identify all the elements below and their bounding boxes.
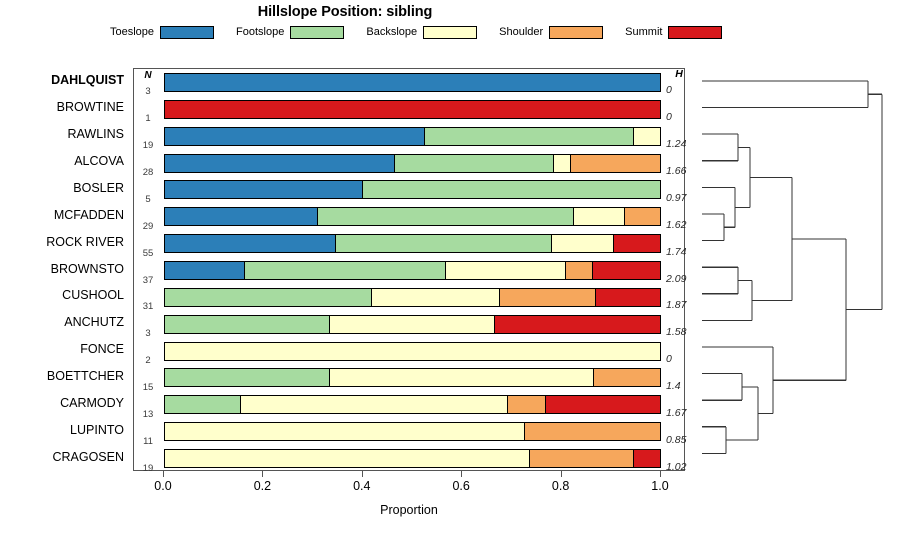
- table-row: [164, 342, 661, 361]
- bar-segment-summit: [596, 289, 660, 306]
- bar-segment-toeslope: [165, 155, 395, 172]
- x-axis-tick: [163, 471, 164, 477]
- n-value: 11: [133, 436, 163, 447]
- legend-item-summit: Summit: [625, 26, 722, 39]
- bar-segment-backslope: [241, 396, 507, 413]
- dendrogram-svg: [700, 68, 898, 471]
- table-row: [164, 395, 661, 414]
- x-axis: 0.00.20.40.60.81.0: [133, 471, 685, 501]
- legend-label: Backslope: [366, 26, 417, 38]
- bar-segment-shoulder: [530, 450, 634, 467]
- bar-segment-footslope: [425, 128, 633, 145]
- bar-segment-shoulder: [594, 369, 660, 386]
- bar-area: [134, 69, 686, 472]
- x-axis-tick: [461, 471, 462, 477]
- row-label-browtine: BROWTINE: [57, 100, 124, 114]
- bar-segment-footslope: [165, 396, 241, 413]
- row-label-rock-river: ROCK RIVER: [46, 235, 124, 249]
- table-row: [164, 73, 661, 92]
- bar-segment-toeslope: [165, 208, 318, 225]
- bar-segment-shoulder: [625, 208, 660, 225]
- legend-label: Summit: [625, 26, 662, 38]
- n-value: 29: [133, 221, 163, 232]
- x-axis-tick: [561, 471, 562, 477]
- bar-segment-backslope: [552, 235, 615, 252]
- x-axis-tick: [660, 471, 661, 477]
- x-axis-title: Proportion: [133, 503, 685, 517]
- legend: ToeslopeFootslopeBackslopeShoulderSummit: [110, 24, 670, 40]
- row-label-mcfadden: MCFADDEN: [54, 208, 124, 222]
- row-label-rawlins: RAWLINS: [68, 127, 125, 141]
- bar-segment-footslope: [245, 262, 445, 279]
- legend-label: Footslope: [236, 26, 284, 38]
- legend-item-toeslope: Toeslope: [110, 26, 214, 39]
- bar-segment-footslope: [165, 289, 372, 306]
- row-label-carmody: CARMODY: [60, 396, 124, 410]
- bar-segment-toeslope: [165, 128, 425, 145]
- x-axis-tick-label: 0.4: [342, 479, 382, 493]
- row-label-dahlquist: DAHLQUIST: [51, 73, 124, 87]
- bar-segment-footslope: [395, 155, 554, 172]
- bar-segment-footslope: [336, 235, 552, 252]
- chart-title: Hillslope Position: sibling: [0, 4, 690, 20]
- x-axis-tick-label: 0.0: [143, 479, 183, 493]
- bar-segment-backslope: [372, 289, 500, 306]
- n-value: 3: [133, 328, 163, 339]
- table-row: [164, 154, 661, 173]
- row-label-column: DAHLQUISTBROWTINERAWLINSALCOVABOSLERMCFA…: [0, 68, 128, 471]
- bar-segment-toeslope: [165, 235, 336, 252]
- row-label-boettcher: BOETTCHER: [47, 369, 124, 383]
- n-column-header: N: [133, 70, 163, 81]
- bar-segment-backslope: [634, 128, 660, 145]
- x-axis-tick-label: 1.0: [640, 479, 680, 493]
- n-value: 37: [133, 275, 163, 286]
- bar-segment-backslope: [165, 450, 530, 467]
- row-label-lupinto: LUPINTO: [70, 423, 124, 437]
- dendrogram: [700, 68, 898, 471]
- legend-swatch-footslope: [290, 26, 344, 39]
- row-label-anchutz: ANCHUTZ: [64, 315, 124, 329]
- row-label-brownsto: BROWNSTO: [51, 262, 124, 276]
- legend-item-footslope: Footslope: [236, 26, 344, 39]
- bar-segment-toeslope: [165, 181, 363, 198]
- n-value: 5: [133, 194, 163, 205]
- table-row: [164, 100, 661, 119]
- x-axis-tick: [262, 471, 263, 477]
- bar-segment-backslope: [330, 369, 594, 386]
- row-label-cushool: CUSHOOL: [62, 288, 124, 302]
- bar-segment-backslope: [165, 343, 660, 360]
- n-value: 2: [133, 355, 163, 366]
- legend-swatch-shoulder: [549, 26, 603, 39]
- bar-segment-summit: [614, 235, 660, 252]
- n-value: 3: [133, 86, 163, 97]
- bar-segment-shoulder: [508, 396, 546, 413]
- plot-panel: [133, 68, 685, 471]
- bar-segment-shoulder: [571, 155, 660, 172]
- n-column: N3119285295537313215131119: [133, 68, 163, 471]
- legend-label: Shoulder: [499, 26, 543, 38]
- bar-segment-backslope: [330, 316, 495, 333]
- bar-segment-backslope: [554, 155, 572, 172]
- row-label-cragosen: CRAGOSEN: [52, 450, 124, 464]
- bar-segment-shoulder: [566, 262, 593, 279]
- bar-segment-summit: [546, 396, 660, 413]
- legend-swatch-backslope: [423, 26, 477, 39]
- n-value: 15: [133, 382, 163, 393]
- x-axis-tick-label: 0.8: [541, 479, 581, 493]
- bar-segment-shoulder: [525, 423, 660, 440]
- n-value: 19: [133, 140, 163, 151]
- h-column-header: H: [666, 69, 692, 80]
- bar-segment-footslope: [165, 369, 330, 386]
- bar-segment-toeslope: [165, 74, 660, 91]
- bar-segment-summit: [165, 101, 660, 118]
- n-value: 1: [133, 113, 163, 124]
- table-row: [164, 449, 661, 468]
- h-column: H001.241.660.971.621.742.091.871.5801.41…: [660, 68, 704, 471]
- row-label-bosler: BOSLER: [73, 181, 124, 195]
- bar-segment-summit: [593, 262, 660, 279]
- table-row: [164, 315, 661, 334]
- legend-swatch-toeslope: [160, 26, 214, 39]
- legend-item-backslope: Backslope: [366, 26, 477, 39]
- n-value: 13: [133, 409, 163, 420]
- table-row: [164, 288, 661, 307]
- table-row: [164, 207, 661, 226]
- bar-segment-toeslope: [165, 262, 245, 279]
- legend-swatch-summit: [668, 26, 722, 39]
- bar-segment-footslope: [165, 316, 330, 333]
- legend-item-shoulder: Shoulder: [499, 26, 603, 39]
- table-row: [164, 422, 661, 441]
- chart-root: Hillslope Position: sibling ToeslopeFoot…: [0, 0, 900, 540]
- bar-segment-backslope: [446, 262, 566, 279]
- x-axis-tick-label: 0.6: [441, 479, 481, 493]
- bar-segment-summit: [495, 316, 660, 333]
- row-label-fonce: FONCE: [80, 342, 124, 356]
- bar-segment-backslope: [574, 208, 625, 225]
- n-value: 28: [133, 167, 163, 178]
- x-axis-tick-label: 0.2: [242, 479, 282, 493]
- bar-segment-footslope: [363, 181, 660, 198]
- table-row: [164, 368, 661, 387]
- table-row: [164, 127, 661, 146]
- x-axis-tick: [362, 471, 363, 477]
- n-value: 55: [133, 248, 163, 259]
- bar-segment-summit: [634, 450, 660, 467]
- bar-segment-footslope: [318, 208, 574, 225]
- legend-label: Toeslope: [110, 26, 154, 38]
- bar-segment-shoulder: [500, 289, 596, 306]
- bar-segment-backslope: [165, 423, 525, 440]
- table-row: [164, 261, 661, 280]
- table-row: [164, 234, 661, 253]
- row-label-alcova: ALCOVA: [74, 154, 124, 168]
- table-row: [164, 180, 661, 199]
- n-value: 31: [133, 301, 163, 312]
